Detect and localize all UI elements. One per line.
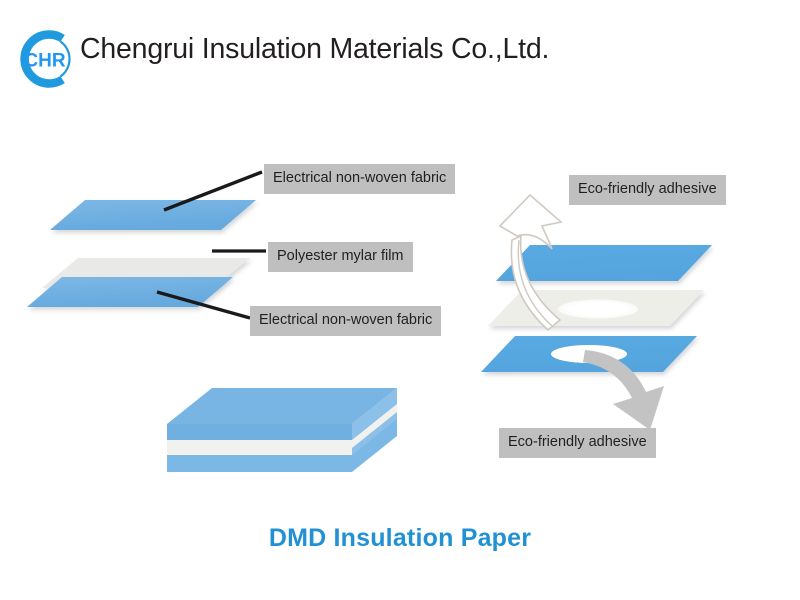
right-layer-stack	[481, 195, 712, 430]
diagram-stage	[0, 0, 800, 600]
product-title: DMD Insulation Paper	[0, 524, 800, 553]
callout-polyester-mylar-film: Polyester mylar film	[268, 242, 413, 272]
right-layer-mylar	[488, 290, 704, 326]
callout-electrical-nonwoven-bottom: Electrical non-woven fabric	[250, 306, 441, 336]
adhesive-window-middle	[558, 300, 638, 319]
block-front-lower-skin	[167, 455, 352, 472]
left-layer-bottom-nonwoven	[27, 277, 233, 307]
block-front-upper-skin	[167, 424, 352, 440]
callout-eco-friendly-adhesive-top: Eco-friendly adhesive	[569, 175, 726, 205]
callout-electrical-nonwoven-top: Electrical non-woven fabric	[264, 164, 455, 194]
callout-eco-friendly-adhesive-bottom: Eco-friendly adhesive	[499, 428, 656, 458]
laminated-block	[167, 388, 397, 472]
left-layer-stack	[27, 172, 266, 318]
right-layer-top-nonwoven	[496, 245, 712, 281]
block-front-core	[167, 440, 352, 455]
left-layer-top-nonwoven	[50, 200, 256, 230]
